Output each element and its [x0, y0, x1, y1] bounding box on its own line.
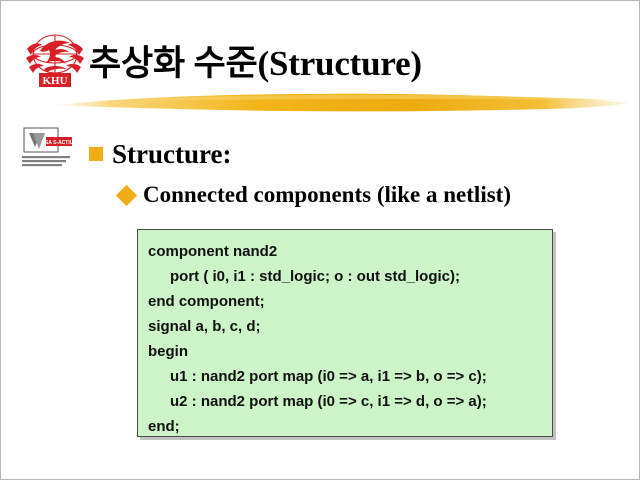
bullet-structure-label: Structure:	[112, 139, 231, 169]
svg-text:KHU: KHU	[42, 75, 67, 87]
code-line: begin	[138, 339, 552, 364]
code-line: port ( i0, i1 : std_logic; o : out std_l…	[138, 264, 552, 289]
code-line: u2 : nand2 port map (i0 => c, i1 => d, o…	[138, 389, 552, 414]
title-divider-brushstroke	[53, 89, 631, 115]
square-bullet-icon	[89, 147, 103, 161]
vhdl-code-box: component nand2 port ( i0, i1 : std_logi…	[137, 229, 553, 437]
bullet-connected-label: Connected components (like a netlist)	[143, 182, 511, 208]
csa-lab-logo: CSA S-ACTIUS	[16, 125, 78, 175]
code-line: end component;	[138, 289, 552, 314]
code-line: component nand2	[138, 239, 552, 264]
bullet-structure: Structure:	[89, 139, 231, 169]
khu-crest-logo: KHU	[22, 29, 88, 89]
presentation-slide: KHU 추상화 수준(Structure)	[0, 0, 640, 480]
code-line: end;	[138, 414, 552, 439]
code-line: signal a, b, c, d;	[138, 314, 552, 339]
diamond-bullet-icon	[116, 184, 137, 205]
bullet-connected-components: Connected components (like a netlist)	[119, 182, 511, 208]
code-line: u1 : nand2 port map (i0 => a, i1 => b, o…	[138, 364, 552, 389]
svg-text:CSA S-ACTIUS: CSA S-ACTIUS	[41, 140, 77, 146]
page-title: 추상화 수준(Structure)	[89, 43, 422, 85]
